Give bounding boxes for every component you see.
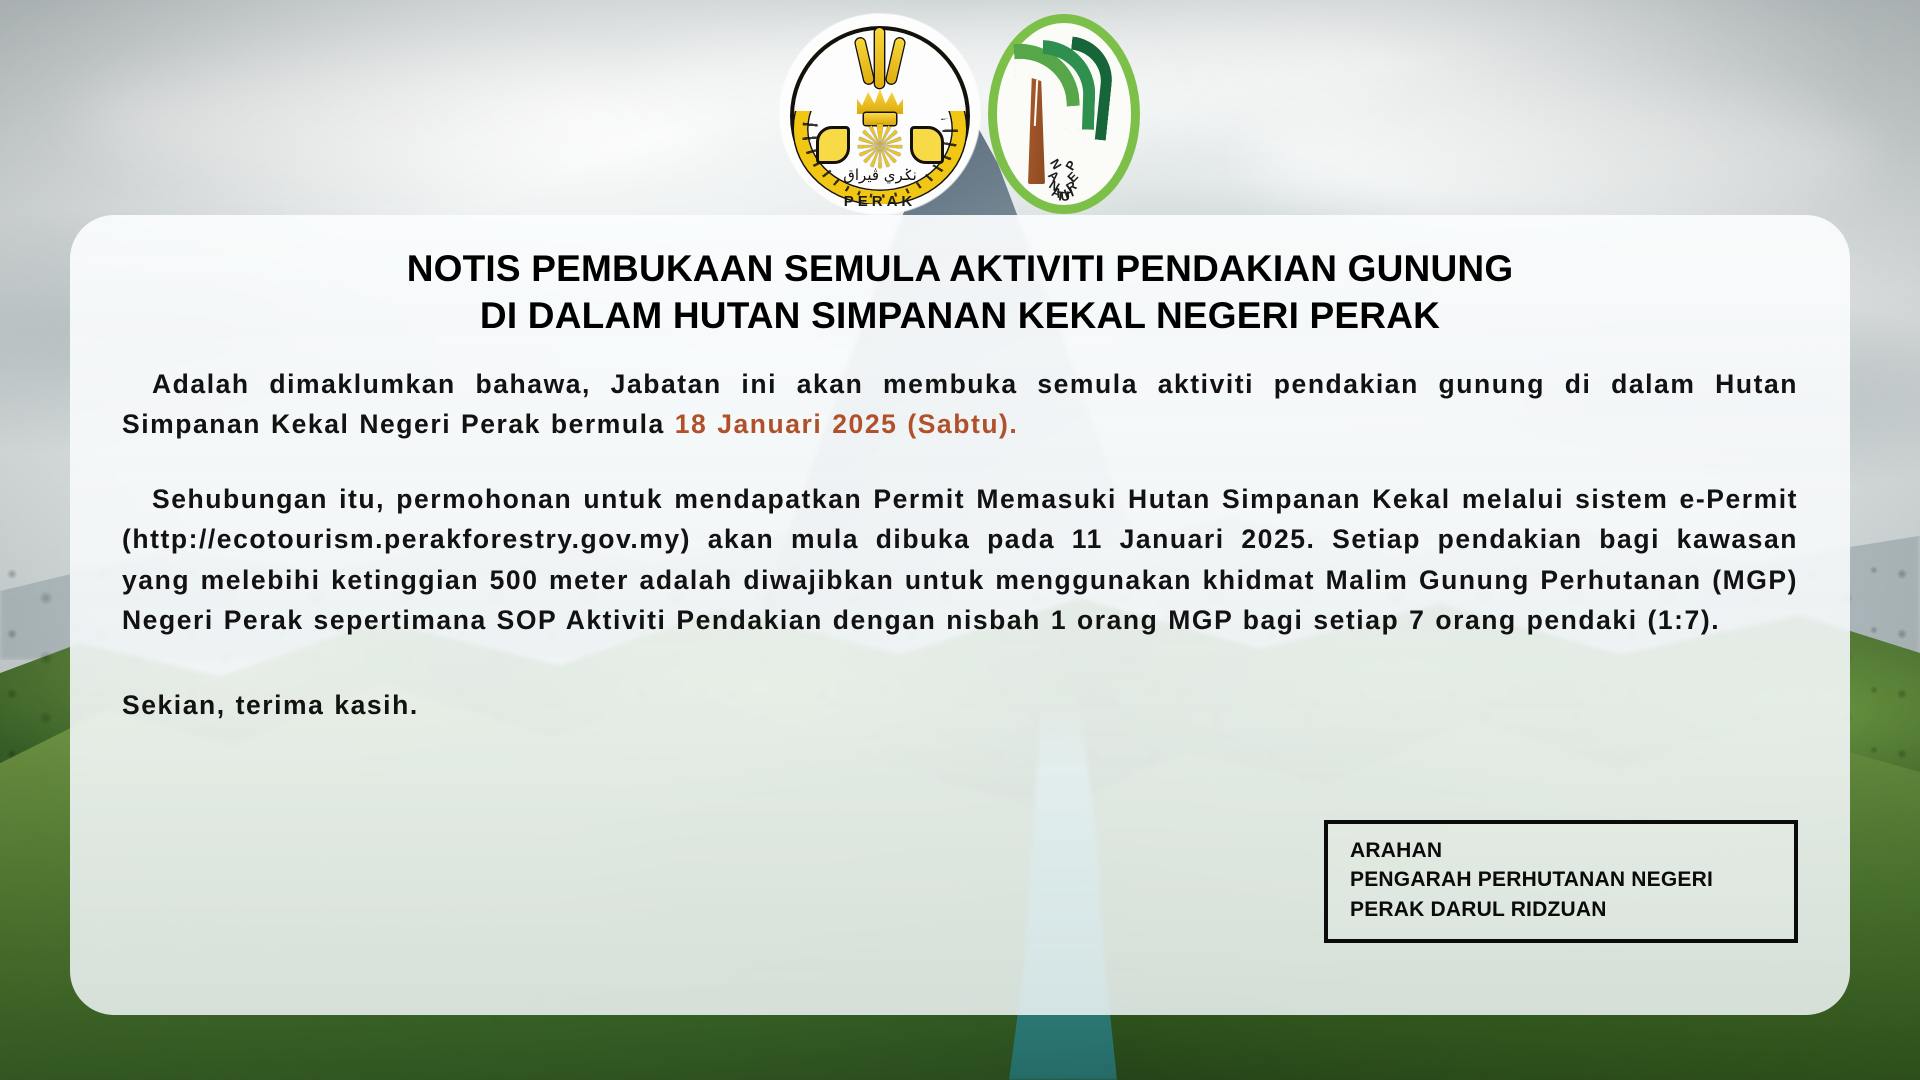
crest-plume (875, 28, 884, 88)
notice-closing: Sekian, terima kasih. (122, 685, 1798, 726)
signature-line-2: PENGARAH PERHUTANAN NEGERI (1350, 865, 1776, 895)
perhutanan-forestry-logo-icon: PERHUTANAN (988, 14, 1140, 214)
notice-paragraph-1: Adalah dimaklumkan bahawa, Jabatan ini a… (122, 364, 1798, 445)
signature-line-3: PERAK DARUL RIDZUAN (1350, 895, 1776, 925)
perak-state-crest: نݢري ڤيراق PERAK (780, 14, 980, 214)
notice-paragraph-2: Sehubungan itu, permohonan untuk mendapa… (122, 479, 1798, 641)
forestry-department-logo: PERHUTANAN (988, 14, 1140, 214)
crest-jawi-script: نݢري ڤيراق (780, 166, 980, 184)
logo-caption: PERHUTANAN (988, 189, 1140, 204)
logo-caption-text: PERHUTANAN (1010, 189, 1117, 204)
crest-right-scroll (910, 126, 944, 164)
crest-left-scroll (816, 126, 850, 164)
reopen-date-highlight: 18 Januari 2025 (Sabtu). (675, 409, 1019, 439)
crest-caption: PERAK (780, 193, 980, 210)
signature-box: ARAHAN PENGARAH PERHUTANAN NEGERI PERAK … (1324, 820, 1798, 943)
perak-state-crest-icon: نݢري ڤيراق PERAK (780, 14, 980, 214)
notice-title-line-2: DI DALAM HUTAN SIMPANAN KEKAL NEGERI PER… (122, 292, 1798, 339)
signature-line-1: ARAHAN (1350, 836, 1776, 866)
notice-title-line-1: NOTIS PEMBUKAAN SEMULA AKTIVITI PENDAKIA… (122, 245, 1798, 292)
crest-sunburst (858, 124, 902, 168)
notice-title: NOTIS PEMBUKAAN SEMULA AKTIVITI PENDAKIA… (122, 245, 1798, 340)
logo-row: نݢري ڤيراق PERAK PERHUTANAN (0, 14, 1920, 234)
notice-card: NOTIS PEMBUKAAN SEMULA AKTIVITI PENDAKIA… (70, 215, 1850, 1015)
